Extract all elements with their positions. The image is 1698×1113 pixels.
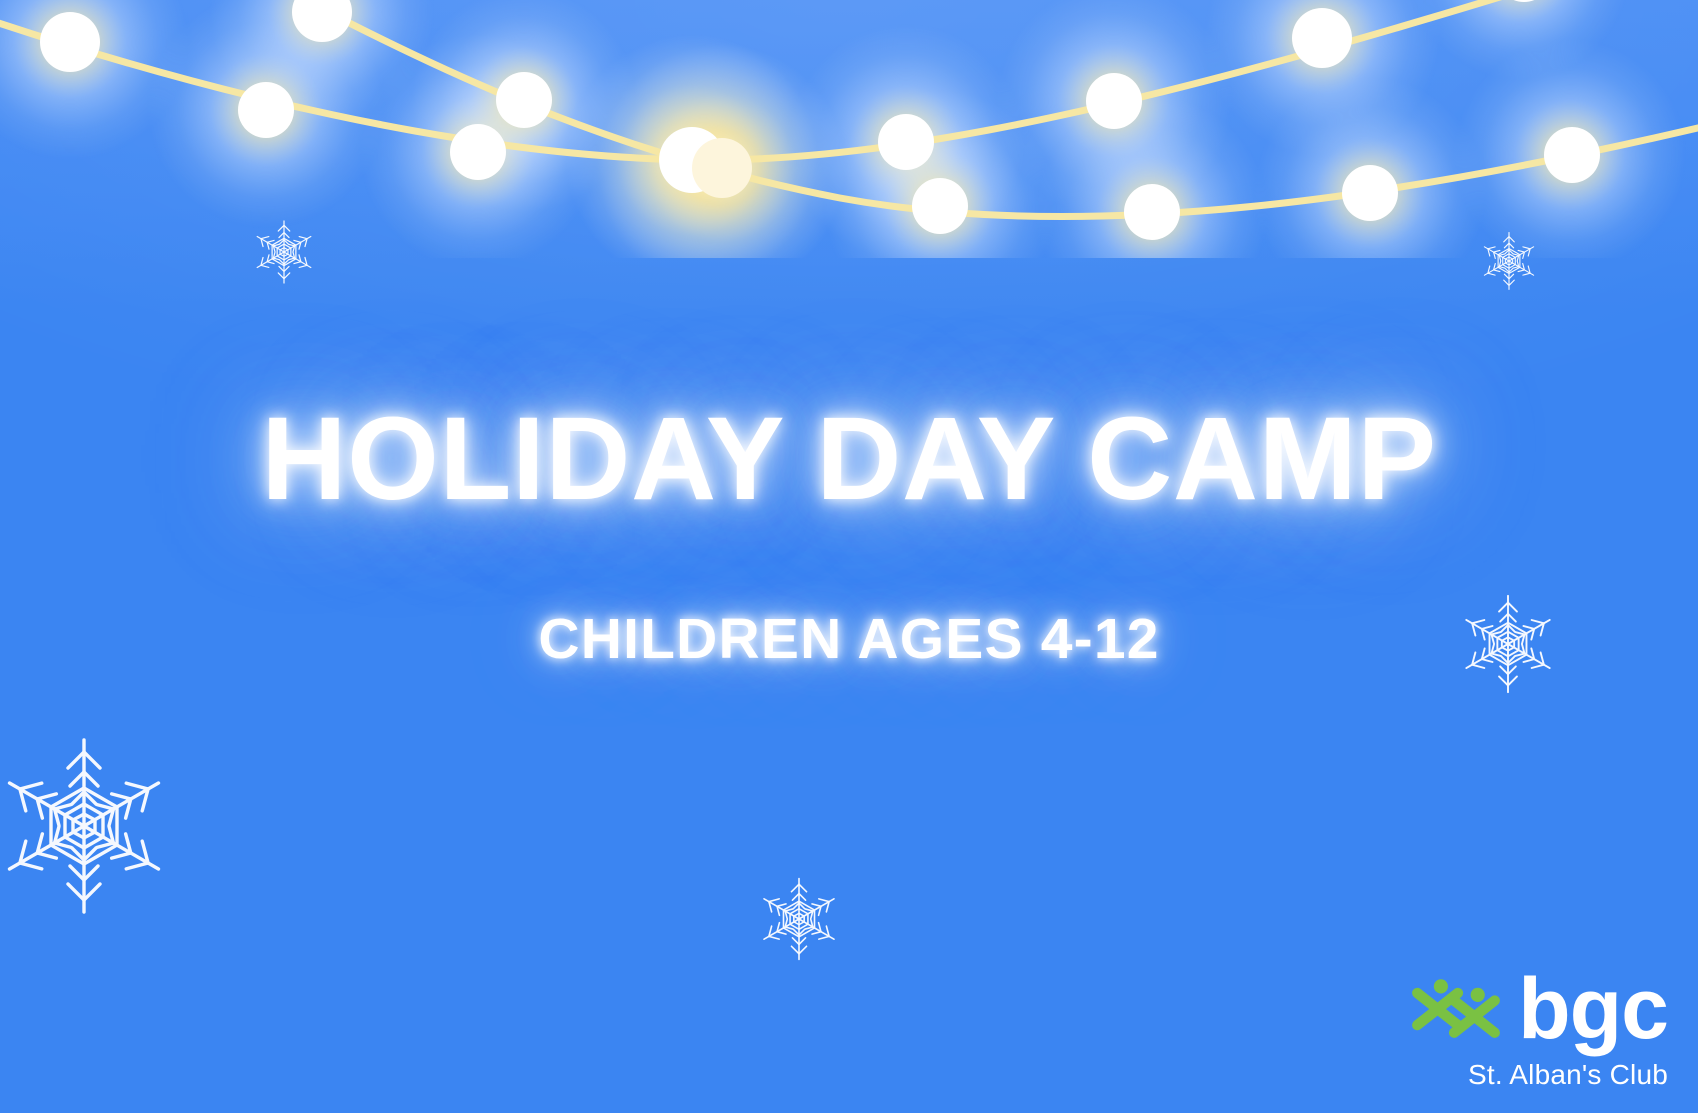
bgc-wordmark: bgc: [1518, 974, 1668, 1045]
snowflake-top-right-small: [1476, 228, 1542, 294]
club-name: St. Alban's Club: [1328, 1059, 1668, 1091]
snowflake-top-left-small: [248, 216, 320, 288]
poster-subtitle: CHILDREN AGES 4-12: [0, 606, 1698, 672]
bgc-logo-block: bgc St. Alban's Club: [1328, 974, 1668, 1091]
snowflake-bottom-left-large: [0, 726, 184, 926]
subtitle-container: CHILDREN AGES 4-12: [0, 606, 1698, 672]
logo-row: bgc: [1328, 974, 1668, 1045]
snowflake-bottom-center-small: [752, 872, 846, 966]
holiday-day-camp-poster: HOLIDAY DAY CAMP CHILDREN AGES 4-12 bgc: [0, 0, 1698, 1113]
poster-title: HOLIDAY DAY CAMP: [0, 398, 1698, 521]
bgc-people-mark-icon: [1408, 976, 1504, 1044]
headline-container: HOLIDAY DAY CAMP: [0, 398, 1698, 521]
